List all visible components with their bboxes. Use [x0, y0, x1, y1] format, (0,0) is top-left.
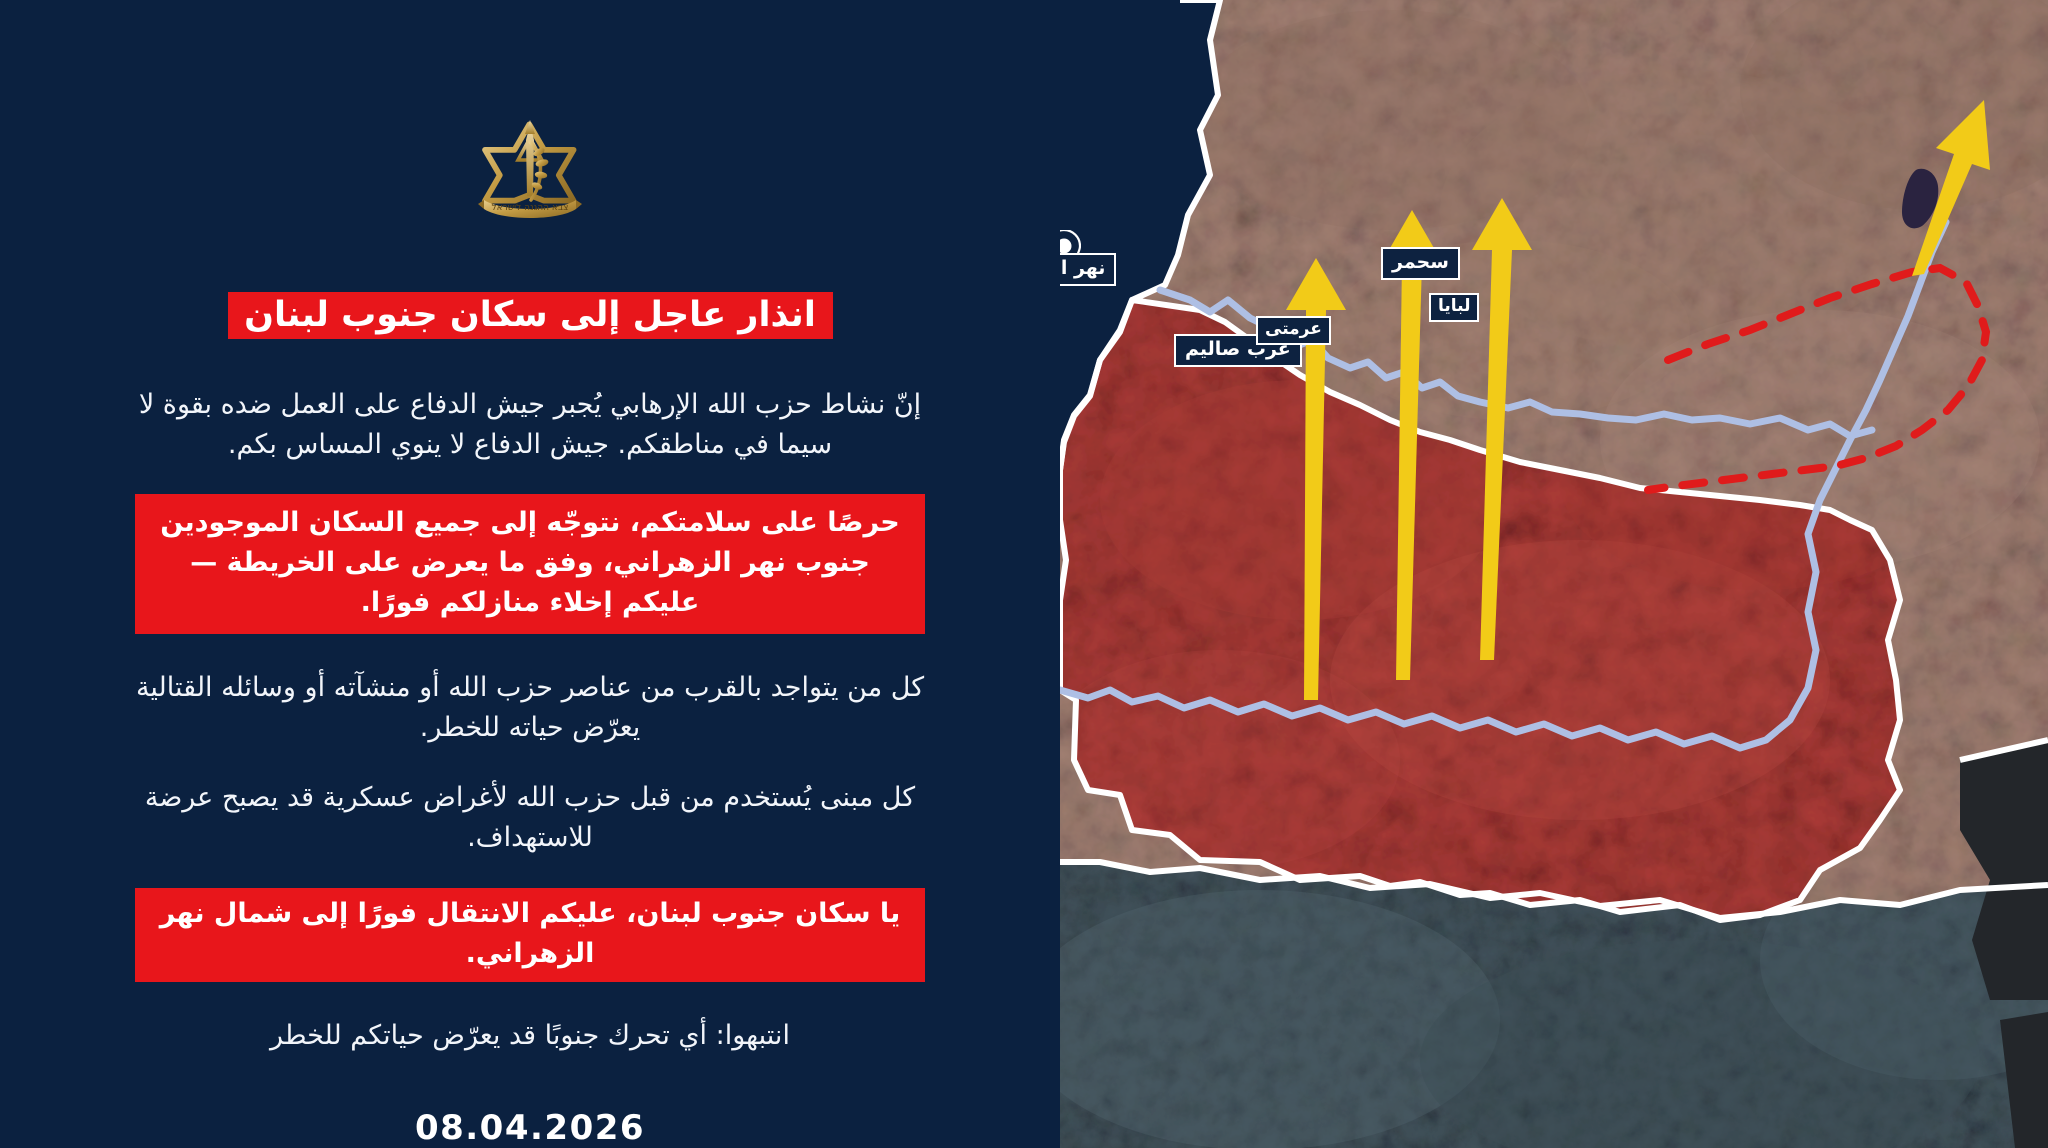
map-label-sahmar[interactable]: سحمر — [1381, 247, 1460, 280]
paragraph-1: إنّ نشاط حزب الله الإرهابي يُجبر جيش الد… — [125, 385, 935, 465]
map-panel[interactable]: نهر الزهراني نهر الليطاني عرب صاليم عرمت… — [1060, 0, 2048, 1148]
highlight-banner-1: حرصًا على سلامتكم، نتوجّه إلى جميع السكا… — [135, 494, 925, 634]
highlight-banner-2: يا سكان جنوب لبنان، عليكم الانتقال فورًا… — [135, 888, 925, 982]
paragraph-4: كل مبنى يُستخدم من قبل حزب الله لأغراض ع… — [125, 778, 935, 858]
paragraph-3: كل من يتواجد بالقرب من عناصر حزب الله أو… — [125, 668, 935, 748]
map-label-zahrani[interactable]: نهر الزهراني — [1060, 253, 1116, 286]
map-label-armata[interactable]: عرمتى — [1256, 316, 1331, 345]
map-graphic — [1060, 0, 2048, 1148]
info-panel: צבא ההגנה לישראל انذار عاجل إلى سكان جنو… — [0, 0, 1060, 1148]
map-label-libbaya[interactable]: لبايا — [1429, 293, 1479, 322]
date-stamp: 08.04.2026 — [415, 1108, 645, 1148]
emblem-banner-text: צבא ההגנה לישראל — [492, 203, 569, 213]
headline-banner: انذار عاجل إلى سكان جنوب لبنان — [228, 292, 833, 339]
idf-emblem: צבא ההגנה לישראל — [476, 108, 584, 230]
headline-text: انذار عاجل إلى سكان جنوب لبنان — [244, 295, 816, 335]
paragraph-6: انتبهوا: أي تحرك جنوبًا قد يعرّض حياتكم … — [125, 1016, 935, 1056]
message-body: إنّ نشاط حزب الله الإرهابي يُجبر جيش الد… — [125, 385, 935, 1148]
poster-root: צבא ההגנה לישראל انذار عاجل إلى سكان جنو… — [0, 0, 2048, 1148]
